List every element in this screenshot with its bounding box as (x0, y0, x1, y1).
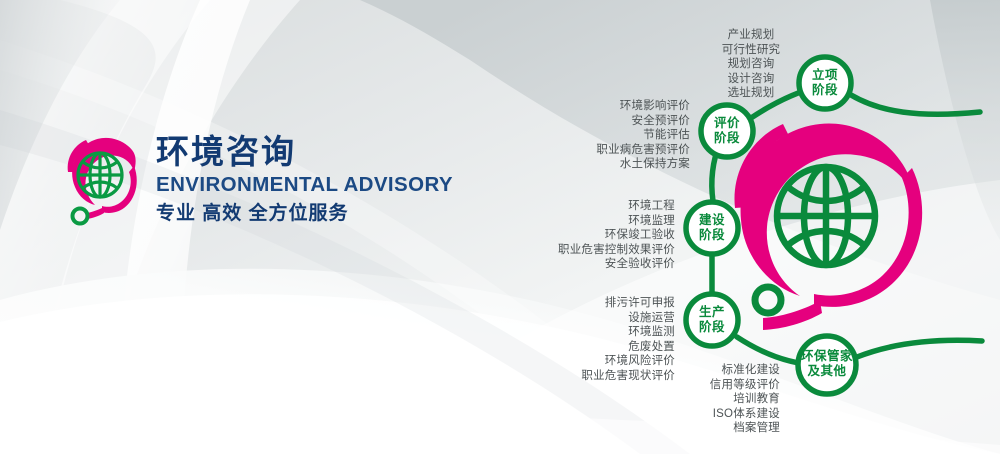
list-item: 环保竣工验收 (515, 228, 675, 243)
list-item: 信用等级评价 (640, 378, 780, 393)
brand-title-en: ENVIRONMENTAL ADVISORY (156, 172, 453, 198)
brand-text-block: 环境咨询 ENVIRONMENTAL ADVISORY 专业 高效 全方位服务 (156, 132, 453, 228)
list-item: 环境监理 (515, 214, 675, 229)
list-item: 环境影响评价 (540, 99, 690, 114)
brand-block: 环境咨询 ENVIRONMENTAL ADVISORY 专业 高效 全方位服务 (60, 132, 480, 237)
list-item: ISO体系建设 (640, 407, 780, 422)
list-item: 规划咨询 (686, 57, 816, 72)
list-item: 档案管理 (640, 421, 780, 436)
brand-subtitle-cn: 专业 高效 全方位服务 (156, 200, 453, 228)
list-item: 节能评估 (540, 128, 690, 143)
list-item: 产业规划 (686, 28, 816, 43)
brand-title-cn: 环境咨询 (156, 132, 453, 172)
center-logo-graphic (734, 124, 922, 330)
list-item: 环境监测 (525, 325, 675, 340)
list-item: 可行性研究 (686, 43, 816, 58)
globe-swoosh-logo-icon (60, 136, 144, 228)
node-huanbao-items: 标准化建设 信用等级评价 培训教育 ISO体系建设 档案管理 (640, 363, 780, 436)
list-item: 水土保持方案 (540, 157, 690, 172)
list-item: 设计咨询 (686, 72, 816, 87)
node-pingjia-items: 环境影响评价 安全预评价 节能评估 职业病危害预评价 水土保持方案 (540, 99, 690, 172)
list-item: 排污许可申报 (525, 296, 675, 311)
list-item: 安全验收评价 (515, 257, 675, 272)
list-item: 培训教育 (640, 392, 780, 407)
list-item: 安全预评价 (540, 114, 690, 129)
list-item: 职业病危害预评价 (540, 143, 690, 158)
list-item: 危废处置 (525, 340, 675, 355)
list-item: 职业危害控制效果评价 (515, 243, 675, 258)
node-lixiang-items: 产业规划 可行性研究 规划咨询 设计咨询 选址规划 (686, 28, 816, 101)
list-item: 设施运营 (525, 311, 675, 326)
list-item: 选址规划 (686, 86, 816, 101)
list-item: 标准化建设 (640, 363, 780, 378)
banner-canvas: 环境咨询 ENVIRONMENTAL ADVISORY 专业 高效 全方位服务 (0, 0, 1000, 454)
node-jianshe-items: 环境工程 环境监理 环保竣工验收 职业危害控制效果评价 安全验收评价 (515, 199, 675, 272)
list-item: 环境工程 (515, 199, 675, 214)
service-flow-diagram: 立项 阶段 产业规划 可行性研究 规划咨询 设计咨询 选址规划 评价 阶段 环境… (520, 0, 1000, 454)
